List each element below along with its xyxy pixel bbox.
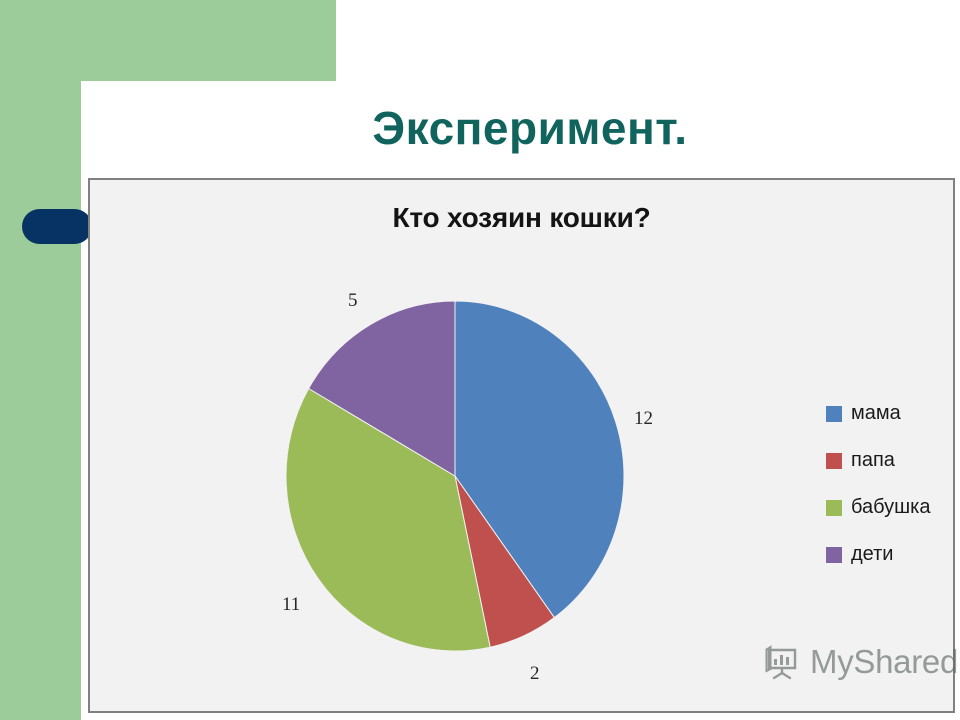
legend-swatch-icon [826,500,842,516]
legend-swatch-icon [826,547,842,563]
watermark: MyShared [762,642,958,682]
slide-canvas: Эксперимент. Кто хозяин кошки? 5 12 11 2… [0,0,960,720]
decor-green-left-band [0,0,81,720]
chart-container: Кто хозяин кошки? 5 12 11 2 мамапапабабу… [88,178,955,713]
legend-swatch-icon [826,406,842,422]
pie-data-label-papa: 2 [530,663,540,685]
decor-green-top-band [0,0,336,81]
legend-item-1: папа [826,449,956,472]
legend-label: мама [851,402,901,425]
decor-navy-pill [22,209,92,244]
pie-slice-group [286,301,624,651]
legend-item-0: мама [826,402,956,425]
legend-item-3: дети [826,543,956,566]
legend-swatch-icon [826,453,842,469]
watermark-label: MyShared [810,643,958,681]
chart-legend: мамапапабабушкадети [826,402,956,590]
pie-data-label-deti: 5 [348,290,358,312]
legend-label: дети [851,543,893,566]
chart-title: Кто хозяин кошки? [90,202,953,234]
legend-label: папа [851,449,895,472]
legend-item-2: бабушка [826,496,956,519]
legend-label: бабушка [851,496,931,519]
pie-data-label-mama: 12 [634,408,653,430]
page-title: Эксперимент. [120,101,940,155]
presentation-board-icon [762,642,802,682]
pie-data-label-babushka: 11 [282,594,300,616]
pie-chart [285,300,625,652]
pie-chart-svg [285,300,625,652]
